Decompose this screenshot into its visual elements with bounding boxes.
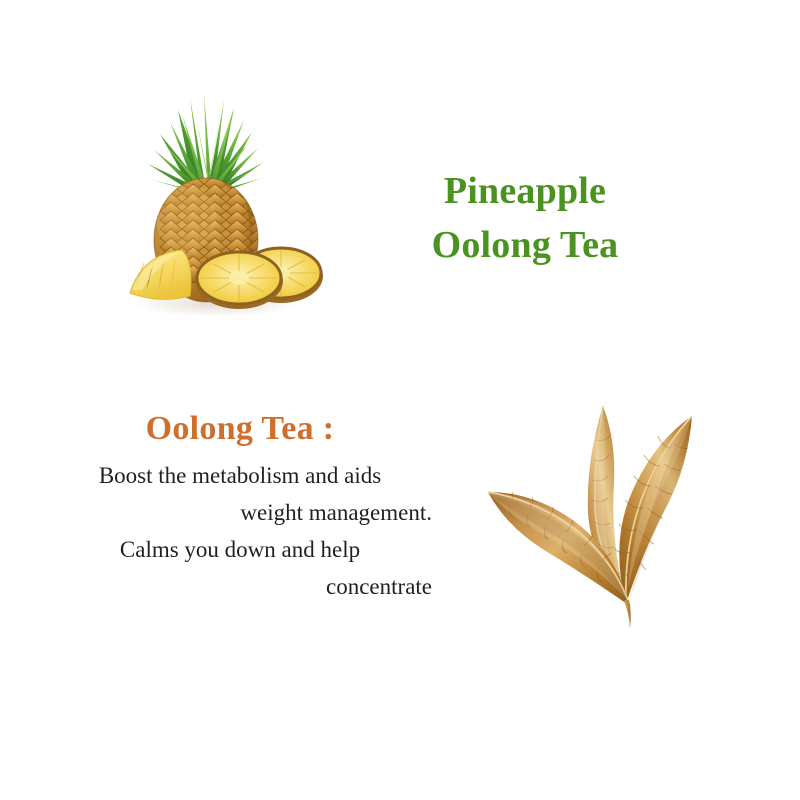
pineapple-illustration — [108, 68, 334, 320]
benefit-line-3: Calms you down and help — [40, 531, 440, 568]
tea-leaf-stem — [624, 600, 631, 628]
pineapple-wedge — [130, 250, 191, 299]
page-title-line-1: Pineapple — [360, 165, 690, 219]
benefit-line-1: Boost the metabolism and aids — [40, 457, 440, 494]
benefit-description: Boost the metabolism and aids weight man… — [40, 457, 440, 606]
benefit-heading: Oolong Tea : — [40, 408, 440, 451]
promo-card: Pineapple Oolong Tea Oolong Tea : Boost … — [0, 0, 800, 800]
page-title-line-2: Oolong Tea — [360, 219, 690, 273]
pineapple-slice-front — [195, 252, 283, 309]
page-title: Pineapple Oolong Tea — [360, 165, 690, 273]
tea-leaf-right — [614, 416, 692, 604]
benefit-line-2: weight management. — [40, 494, 440, 531]
benefit-line-4: concentrate — [40, 568, 440, 605]
benefit-block: Oolong Tea : Boost the metabolism and ai… — [40, 408, 440, 606]
tea-leaves-illustration — [478, 388, 714, 634]
pineapple-crown — [148, 94, 264, 192]
